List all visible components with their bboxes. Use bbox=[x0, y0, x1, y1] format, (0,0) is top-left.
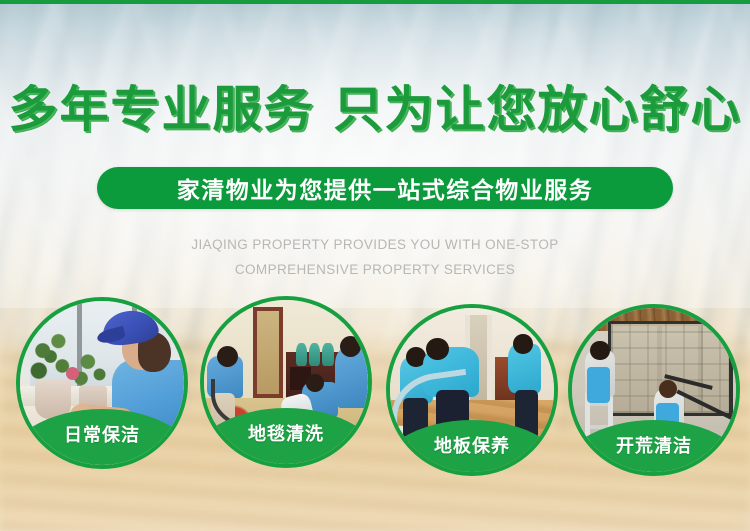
red-cleaning-cloth bbox=[38, 419, 82, 440]
worker-standing-head bbox=[659, 380, 677, 398]
tagline-pill: 家清物业为您提供一站式综合物业服务 bbox=[97, 167, 673, 209]
green-vase-1 bbox=[296, 343, 307, 366]
worker-3-shoe bbox=[511, 436, 532, 446]
worker-standing-apron bbox=[656, 403, 679, 442]
worker-on-ladder-head bbox=[590, 341, 610, 361]
daily-cleaning-photo bbox=[20, 301, 184, 465]
page-title: 多年专业服务 只为让您放心舒心 bbox=[0, 82, 750, 138]
floor-maintenance-photo bbox=[390, 308, 554, 472]
service-circle-post-construction-cleaning[interactable]: 开荒清洁 bbox=[568, 304, 740, 476]
service-circle-daily-cleaning[interactable]: 日常保洁 bbox=[16, 297, 188, 469]
pink-flower bbox=[66, 367, 79, 380]
worker-3-head bbox=[513, 334, 533, 354]
promo-banner: 多年专业服务 只为让您放心舒心 家清物业为您提供一站式综合物业服务 JIAQIN… bbox=[0, 0, 750, 531]
worker-on-ladder-apron bbox=[587, 367, 610, 403]
subtitle-english: JIAQING PROPERTY PROVIDES YOU WITH ONE-S… bbox=[0, 232, 750, 282]
green-vase-3 bbox=[322, 343, 333, 366]
service-circle-carpet-cleaning[interactable]: 地毯清洗 bbox=[200, 296, 372, 468]
service-circle-floor-maintenance[interactable]: 地板保养 bbox=[386, 304, 558, 476]
green-vase-2 bbox=[309, 343, 320, 366]
top-green-rule bbox=[0, 0, 750, 4]
worker-blue-shirt bbox=[112, 360, 188, 449]
worker-3-legs bbox=[515, 390, 538, 439]
post-construction-cleaning-photo bbox=[572, 308, 736, 472]
subtitle-line-2: COMPREHENSIVE PROPERTY SERVICES bbox=[0, 257, 750, 282]
tagline-text: 家清物业为您提供一站式综合物业服务 bbox=[177, 171, 594, 205]
worker-center-head bbox=[306, 374, 324, 392]
subtitle-line-1: JIAQING PROPERTY PROVIDES YOU WITH ONE-S… bbox=[191, 237, 558, 252]
worker-right-body bbox=[335, 349, 368, 408]
carpet-cleaning-photo bbox=[204, 300, 368, 464]
